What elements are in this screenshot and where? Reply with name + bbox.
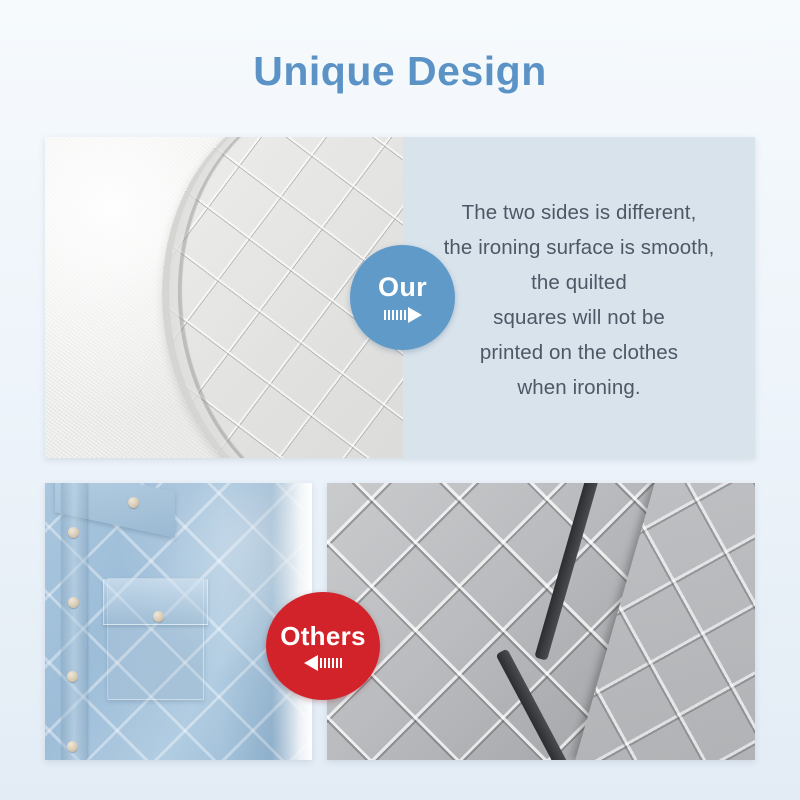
collar-button (128, 497, 139, 508)
shirt-button (68, 527, 79, 538)
page-title: Unique Design (0, 48, 800, 95)
shirt-button (67, 671, 78, 682)
others-badge: Others (266, 592, 380, 700)
infographic-page: Unique Design The two sides is different… (0, 0, 800, 800)
description-line: when ironing. (419, 370, 739, 405)
others-mat-panel (327, 483, 755, 760)
description-line: squares will not be (419, 300, 739, 335)
triangle-left (304, 655, 318, 671)
pocket-button (153, 611, 164, 622)
triangle-right (408, 307, 422, 323)
description-line: printed on the clothes (419, 335, 739, 370)
shirt-button (67, 741, 78, 752)
description-pane: The two sides is different, the ironing … (403, 137, 755, 458)
tick-marks (320, 658, 342, 668)
shirt-placket (61, 483, 87, 760)
our-badge-label: Our (378, 274, 427, 301)
arrow-right-ticks-icon (384, 308, 422, 322)
description-text: The two sides is different, the ironing … (419, 195, 739, 405)
description-line: the quilted (419, 265, 739, 300)
description-line: The two sides is different, (419, 195, 739, 230)
gray-quilted-mat-photo (327, 483, 755, 760)
tick-marks (384, 310, 406, 320)
arrow-left-ticks-icon (304, 656, 342, 670)
description-line: the ironing surface is smooth, (419, 230, 739, 265)
others-badge-label: Others (280, 623, 366, 649)
shirt-button (68, 597, 79, 608)
our-badge: Our (350, 245, 455, 350)
